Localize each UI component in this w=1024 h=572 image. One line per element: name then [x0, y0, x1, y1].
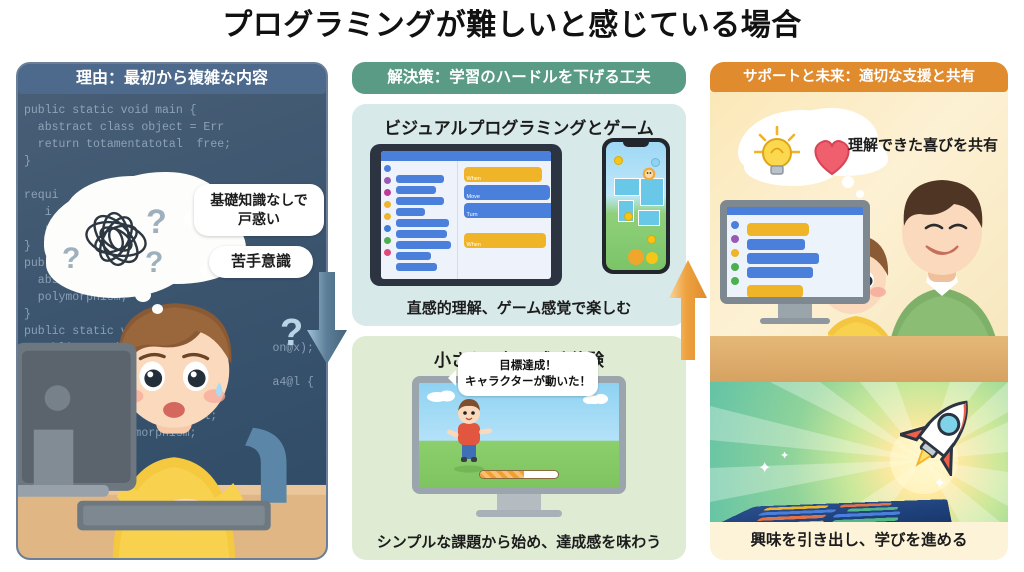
panel-support-future: サポートと未来：適切な支援と共有 理解できた喜びを共有 [710, 62, 1008, 560]
card-small-goals: 小さな目標と成功体験 目標達成！ キャラクターが動いた [352, 336, 686, 560]
block-label: Turn [464, 210, 481, 220]
phone-game-screen [606, 142, 666, 270]
smartphone-device [602, 138, 670, 274]
right-monitor-device [720, 200, 870, 328]
scratch-editor-view [727, 207, 863, 297]
support-scene: 理解できた喜びを共有 [710, 92, 1008, 382]
question-mark-icon: ? [62, 242, 80, 276]
cloud-icon [427, 389, 457, 402]
future-rocket-scene: ✦ ✦ ✦ [710, 382, 1008, 522]
sparkle-icon: ✦ [933, 474, 946, 492]
progress-fill [480, 471, 524, 478]
game-character-icon [640, 164, 658, 182]
question-mark-icon: ? [145, 246, 163, 280]
card-visual-programming-title: ビジュアルプログラミングとゲーム [352, 114, 686, 139]
block-label: Move [464, 192, 483, 202]
goal-bubble-line-2: キャラクターが動いた！ [463, 374, 593, 390]
sparkle-icon: ✦ [780, 449, 789, 462]
thought-bubble-dot [135, 288, 151, 302]
category-dots [384, 165, 391, 261]
question-mark-icon: ? [146, 203, 167, 242]
question-mark-icon: ? [280, 312, 303, 355]
bubble-line-2: 戸惑い [200, 210, 318, 229]
goal-achieved-bubble: 目標達成！ キャラクターが動いた！ [458, 352, 598, 396]
block-palette [381, 161, 458, 279]
card-visual-programming-caption: 直感的理解、ゲーム感覚で楽しむ [352, 297, 686, 318]
game-character-illustration [443, 397, 495, 473]
block-label: When [464, 240, 484, 250]
monitor-base [476, 510, 562, 517]
confusion-speech-bubble: 基礎知識なしで 戸惑い [194, 184, 324, 236]
card-small-goals-caption: シンプルな課題から始め、達成感を味わう [352, 531, 686, 552]
page-title: プログラミングが難しいと感じている場合 [0, 6, 1024, 46]
arrow-up-middle-to-right [668, 258, 708, 362]
scratch-block-when-clicked-2[interactable]: When [464, 233, 546, 248]
scratch-block-turn[interactable]: Turn [464, 203, 552, 218]
block-label: When [464, 174, 484, 184]
progress-bar [479, 470, 559, 479]
panel-support-header: サポートと未来：適切な支援と共有 [710, 62, 1008, 92]
card-visual-programming: ビジュアルプログラミングとゲーム [352, 104, 686, 326]
desk-surface [710, 336, 1008, 382]
tablet-device: When Move Turn When [370, 144, 562, 286]
monitor-stand [497, 494, 541, 510]
thought-bubble-dot [856, 190, 864, 198]
thought-bubble-dot [842, 176, 854, 188]
panel-reason: 理由：最初から複雑な内容 public static void main { a… [16, 62, 328, 560]
panel-solution-header: 解決策：学習のハードルを下げる工夫 [352, 62, 686, 94]
tablet-screen: When Move Turn When [381, 151, 551, 279]
play-button[interactable] [628, 249, 644, 265]
sparkle-icon: ✦ [758, 458, 771, 478]
right-panel-caption: 興味を引き出し、学びを進める [710, 522, 1008, 560]
goal-bubble-line-1: 目標達成！ [463, 358, 593, 374]
coin-counter-icon [646, 252, 658, 264]
bubble-line-1: 基礎知識なしで [200, 191, 318, 210]
arrow-down-left-to-middle [305, 272, 349, 368]
app-toolbar [381, 151, 551, 161]
share-joy-text: 理解できた喜びを共有 [848, 134, 998, 155]
rocket-icon [900, 390, 984, 476]
lightbulb-icon [754, 126, 800, 178]
panel-reason-header: 理由：最初から複雑な内容 [18, 64, 326, 94]
right-monitor-screen [720, 200, 870, 304]
phone-notch [623, 142, 649, 147]
script-canvas: When Move Turn When [458, 161, 552, 279]
editor-toolbar [727, 207, 863, 215]
scratch-block-when-clicked[interactable]: When [464, 167, 542, 182]
weakness-speech-bubble: 苦手意識 [209, 246, 313, 278]
scratch-block-move-steps[interactable]: Move [464, 185, 550, 200]
monitor-device [412, 376, 626, 516]
tangled-scribble-icon [76, 204, 156, 274]
thought-bubble-dot [152, 304, 163, 314]
